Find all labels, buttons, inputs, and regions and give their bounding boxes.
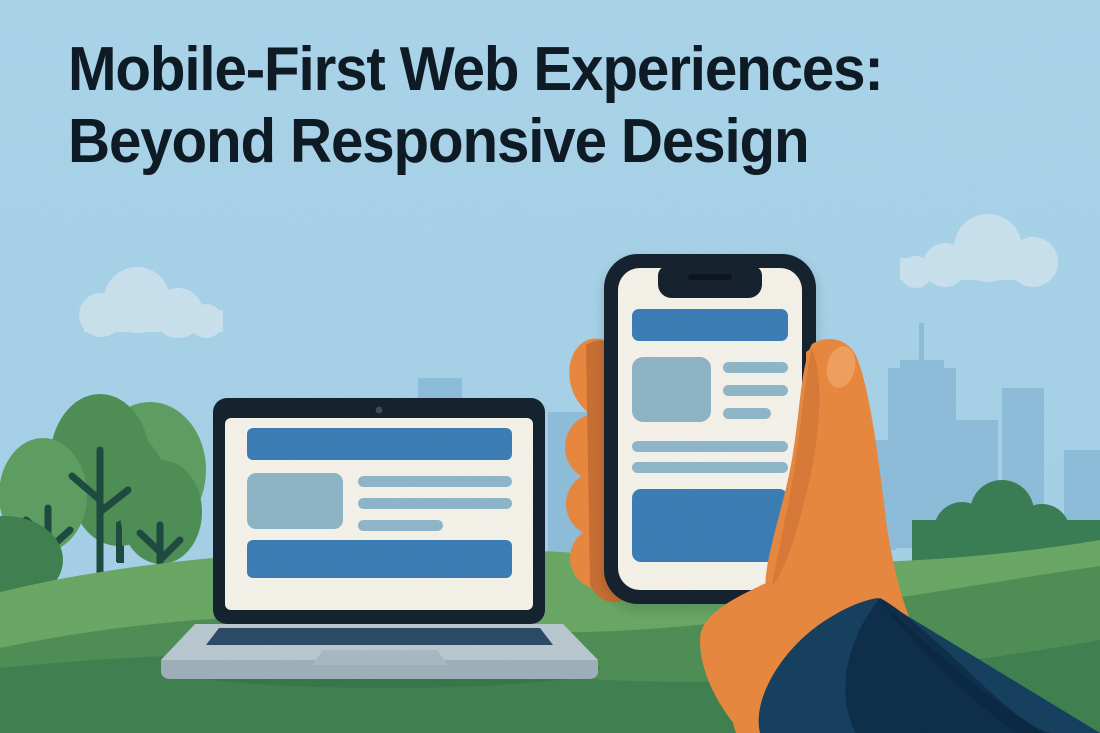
phone-text-line-full [632,462,788,473]
phone-content-block [632,489,788,562]
phone-notch [658,266,762,298]
phone-text-line [723,362,788,373]
laptop-camera-dot [376,407,383,414]
laptop-text-line [358,476,512,487]
laptop-image-placeholder [247,473,343,529]
phone-header-bar [632,309,788,341]
laptop [161,398,600,688]
laptop-footer-bar [247,540,512,578]
phone-image-placeholder [632,357,711,422]
phone-text-line [723,408,771,419]
scene-svg [0,0,1100,733]
laptop-trackpad [312,650,448,665]
phone-text-line [723,385,788,396]
laptop-text-line [358,498,512,509]
laptop-wireframe [247,428,512,578]
laptop-keyboard-deck [206,628,553,645]
phone-text-line-full [632,441,788,452]
laptop-header-bar [247,428,512,460]
illustration-canvas: Mobile-First Web Experiences: Beyond Res… [0,0,1100,733]
laptop-text-line [358,520,443,531]
phone-speaker-slot [688,274,732,280]
